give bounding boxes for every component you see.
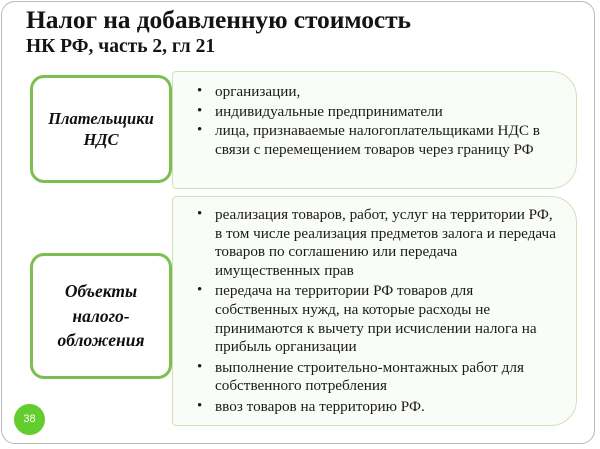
label-line: НДС [83,130,118,149]
page-subtitle: НК РФ, часть 2, гл 21 [26,36,571,58]
list-item: выполнение строительно-монтажных работ д… [195,359,560,396]
label-line: Объекты [65,281,137,301]
content-box-taxpayers: организации, индивидуальные предпринимат… [172,71,577,189]
list-item: передача на территории РФ товаров для со… [195,282,560,356]
bullet-list-taxpayers: организации, индивидуальные предпринимат… [173,72,576,159]
content-box-taxation-objects: реализация товаров, работ, услуг на терр… [172,196,577,426]
list-item: организации, [195,83,560,102]
section-label-text: Объекты налого- обложения [51,279,150,354]
label-line: обложения [57,330,144,350]
page-number-text: 38 [23,414,35,425]
list-item: ввоз товаров на территорию РФ. [195,398,560,417]
page-title: Налог на добавленную стоимость [26,6,571,34]
page-number-badge: 38 [14,404,45,435]
presentation-slide: Налог на добавленную стоимость НК РФ, ча… [0,0,600,449]
slide-header: Налог на добавленную стоимость НК РФ, ча… [26,6,571,57]
section-label-text: Плательщики НДС [42,108,160,151]
list-item: индивидуальные предприниматели [195,103,560,122]
section-label-taxpayers: Плательщики НДС [30,75,172,183]
section-label-taxation-objects: Объекты налого- обложения [30,253,172,379]
bullet-list-taxation-objects: реализация товаров, работ, услуг на терр… [173,197,576,417]
list-item: лица, признаваемые налогоплательщиками Н… [195,122,560,159]
label-line: налого- [72,306,129,326]
list-item: реализация товаров, работ, услуг на терр… [195,206,560,280]
label-line: Плательщики [48,109,154,128]
